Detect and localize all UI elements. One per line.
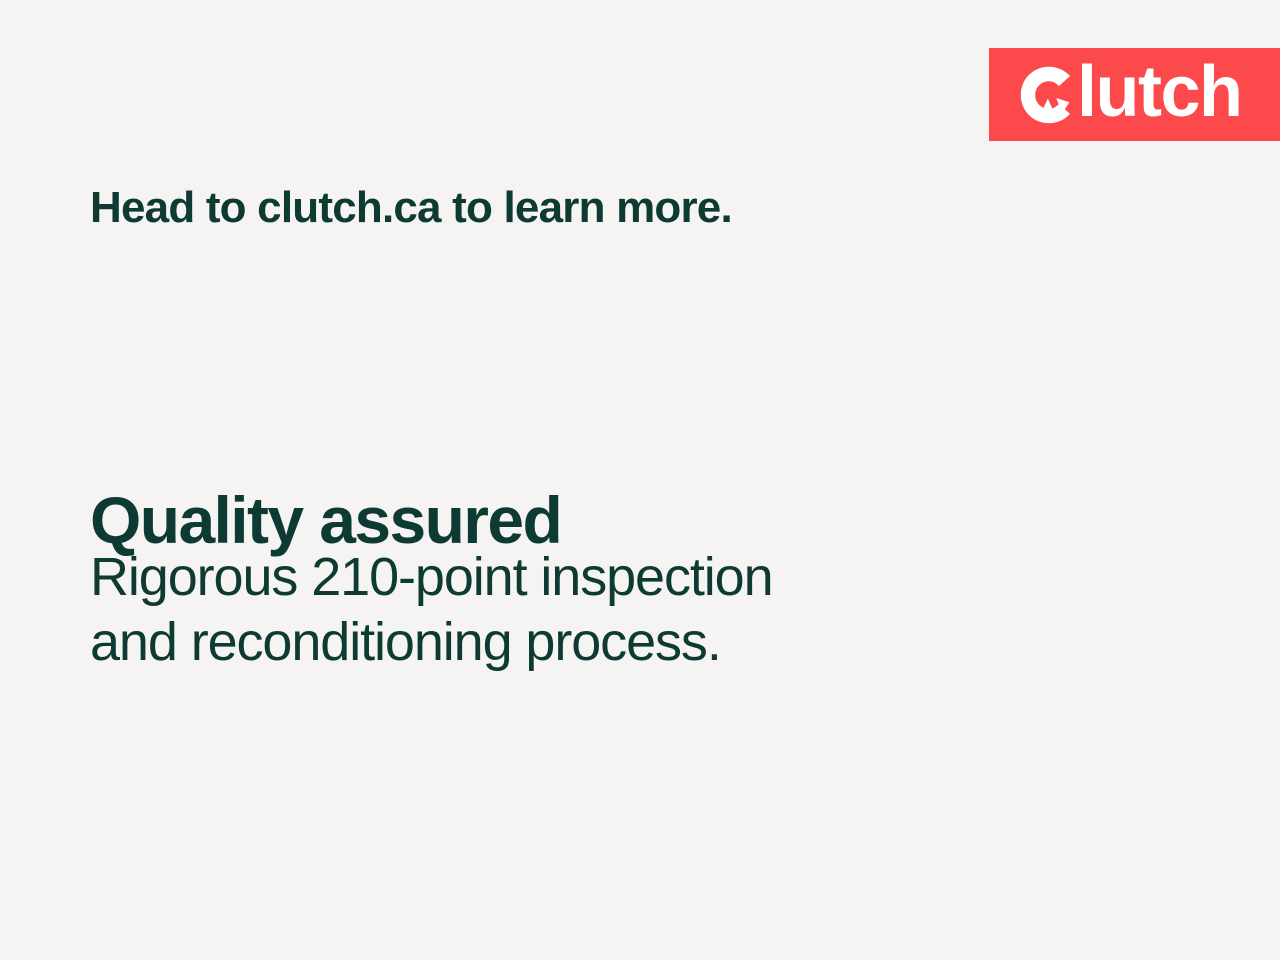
marketing-slide: lutch Head to clutch.ca to learn more. Q… [0,0,1280,960]
clutch-c-pie-icon [1019,65,1079,125]
clutch-brand-block: lutch [989,48,1280,141]
subheadline-line-2: and reconditioning process. [90,610,773,675]
clutch-wordmark: lutch [1019,64,1245,126]
subheadline-line-1: Rigorous 210-point inspection [90,545,773,610]
eyebrow-text: Head to clutch.ca to learn more. [90,180,732,236]
clutch-wordmark-text: lutch [1077,61,1241,123]
subheadline: Rigorous 210-point inspection and recond… [90,545,773,675]
